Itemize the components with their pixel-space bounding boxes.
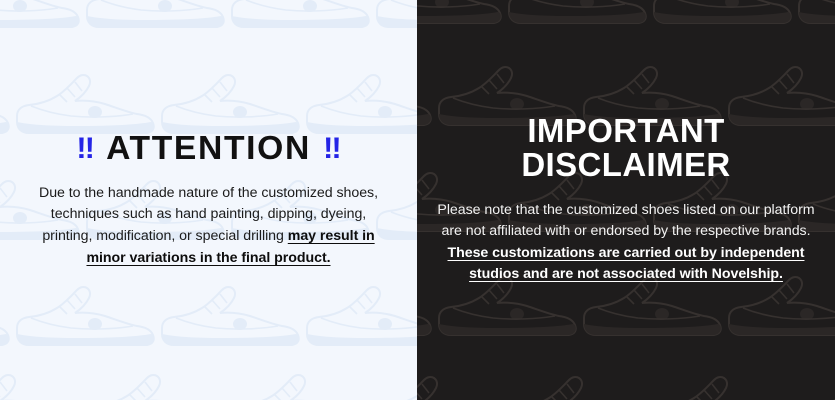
disclaimer-heading-line-2: DISCLAIMER bbox=[437, 148, 815, 182]
disclaimer-body: Please note that the customized shoes li… bbox=[437, 200, 815, 286]
disclaimer-panel: IMPORTANT DISCLAIMER Please note that th… bbox=[417, 0, 835, 400]
attention-panel: ‼ATTENTION‼ Due to the handmade nature o… bbox=[0, 0, 417, 400]
double-exclamation-icon-left: ‼ bbox=[76, 134, 93, 164]
attention-disclaimer-banner: ‼ATTENTION‼ Due to the handmade nature o… bbox=[0, 0, 835, 400]
attention-heading: ‼ATTENTION‼ bbox=[22, 131, 394, 164]
disclaimer-heading-line-1: IMPORTANT bbox=[437, 114, 815, 148]
attention-heading-text: ATTENTION bbox=[106, 129, 311, 166]
attention-body: Due to the handmade nature of the custom… bbox=[26, 183, 391, 269]
disclaimer-body-plain: Please note that the customized shoes li… bbox=[437, 202, 814, 240]
disclaimer-body-emphasis: These customizations are carried out by … bbox=[448, 245, 805, 283]
disclaimer-heading: IMPORTANT DISCLAIMER bbox=[437, 114, 815, 183]
attention-content: ‼ATTENTION‼ Due to the handmade nature o… bbox=[0, 131, 417, 269]
double-exclamation-icon-right: ‼ bbox=[323, 134, 340, 164]
disclaimer-content: IMPORTANT DISCLAIMER Please note that th… bbox=[417, 114, 835, 286]
